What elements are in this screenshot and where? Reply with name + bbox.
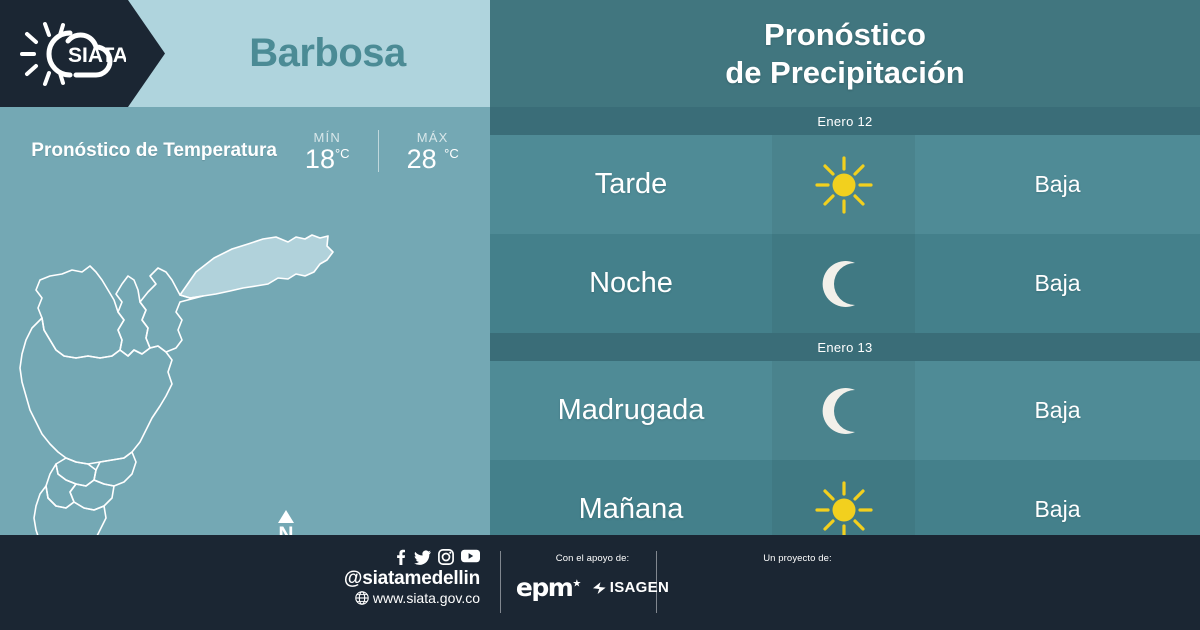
precipitation-level: Baja (915, 361, 1200, 460)
temperature-divider (378, 130, 379, 172)
support-block: Con el apoyo de: epm★ ISAGEN (505, 553, 680, 600)
forecast-period: Tarde (490, 135, 772, 234)
siata-logo-badge: SIATA (0, 0, 165, 107)
brand-bar: SIATA Barbosa (0, 0, 490, 107)
youtube-icon[interactable] (461, 549, 480, 563)
map-svg (0, 180, 490, 535)
twitter-icon[interactable] (414, 549, 431, 565)
isagen-logo: ISAGEN (592, 580, 669, 595)
footer-divider-2 (656, 551, 657, 613)
footer-divider-1 (500, 551, 501, 613)
date-band-1: Enero 12 (490, 107, 1200, 135)
temperature-min: MÍN 18°C (305, 130, 350, 173)
forecast-row: Noche Baja (490, 234, 1200, 333)
temperature-min-value: 18°C (305, 146, 350, 173)
left-panel: SIATA Barbosa Pronóstico de Temperatura … (0, 0, 490, 535)
forecast-icon-cell (772, 135, 915, 234)
forecast-row: Madrugada Baja (490, 361, 1200, 460)
city-title: Barbosa (165, 0, 490, 107)
map-region-medellin (20, 318, 172, 464)
social-block: @siatamedellin www.siata.gov.co (330, 549, 480, 607)
social-handle[interactable]: @siatamedellin (330, 568, 480, 590)
website-text: www.siata.gov.co (373, 590, 480, 607)
precipitation-forecast-panel: Pronóstico de Precipitación Enero 12 Tar… (490, 0, 1200, 535)
north-arrow-icon (278, 510, 294, 523)
temperature-max-value: 28 °C (407, 146, 459, 173)
project-block: Un proyecto de: (710, 553, 885, 564)
temperature-min-label: MÍN (305, 130, 350, 145)
aburra-valley-map: N (0, 180, 490, 535)
website-line[interactable]: www.siata.gov.co (330, 590, 480, 607)
epm-logo: epm★ (516, 575, 580, 600)
forecast-row: Tarde Baja (490, 135, 1200, 234)
min-unit: °C (335, 146, 350, 161)
footer: @siatamedellin www.siata.gov.co Con el a… (0, 535, 1200, 630)
isagen-mark-icon (592, 581, 607, 595)
moon-icon (815, 255, 873, 313)
svg-text:SIATA: SIATA (68, 44, 126, 67)
temperature-summary: Pronóstico de Temperatura MÍN 18°C MÁX 2… (0, 118, 490, 184)
min-number: 18 (305, 144, 335, 174)
project-caption: Un proyecto de: (710, 553, 885, 564)
sun-cloud-icon: SIATA (14, 17, 126, 91)
forecast-period: Noche (490, 234, 772, 333)
map-region-envigado (94, 452, 136, 486)
support-caption: Con el apoyo de: (505, 553, 680, 564)
globe-icon (355, 591, 369, 605)
map-region-itagui (56, 458, 96, 486)
forecast-title: Pronóstico de Precipitación (725, 16, 964, 92)
temperature-max: MÁX 28 °C (407, 130, 459, 173)
map-region-bello (36, 266, 124, 358)
precipitation-level: Baja (915, 234, 1200, 333)
temperature-title: Pronóstico de Temperatura (31, 139, 277, 163)
forecast-header: Pronóstico de Precipitación (490, 0, 1200, 107)
isagen-label: ISAGEN (610, 580, 669, 595)
social-icons (330, 549, 480, 565)
epm-star: ★ (572, 579, 579, 590)
map-region-barbosa (180, 235, 333, 298)
sun-icon (813, 154, 875, 216)
facebook-icon[interactable] (393, 549, 407, 565)
epm-label: epm (516, 573, 572, 602)
max-unit: °C (444, 146, 459, 161)
weather-forecast-poster: SIATA Barbosa Pronóstico de Temperatura … (0, 0, 1200, 630)
instagram-icon[interactable] (438, 549, 454, 565)
sun-icon (813, 479, 875, 541)
forecast-period: Madrugada (490, 361, 772, 460)
forecast-icon-cell (772, 234, 915, 333)
temperature-max-label: MÁX (407, 130, 459, 145)
moon-icon (815, 382, 873, 440)
date-band-2: Enero 13 (490, 333, 1200, 361)
support-logos: epm★ ISAGEN (505, 575, 680, 600)
forecast-icon-cell (772, 361, 915, 460)
precipitation-level: Baja (915, 135, 1200, 234)
max-number: 28 (407, 144, 437, 174)
